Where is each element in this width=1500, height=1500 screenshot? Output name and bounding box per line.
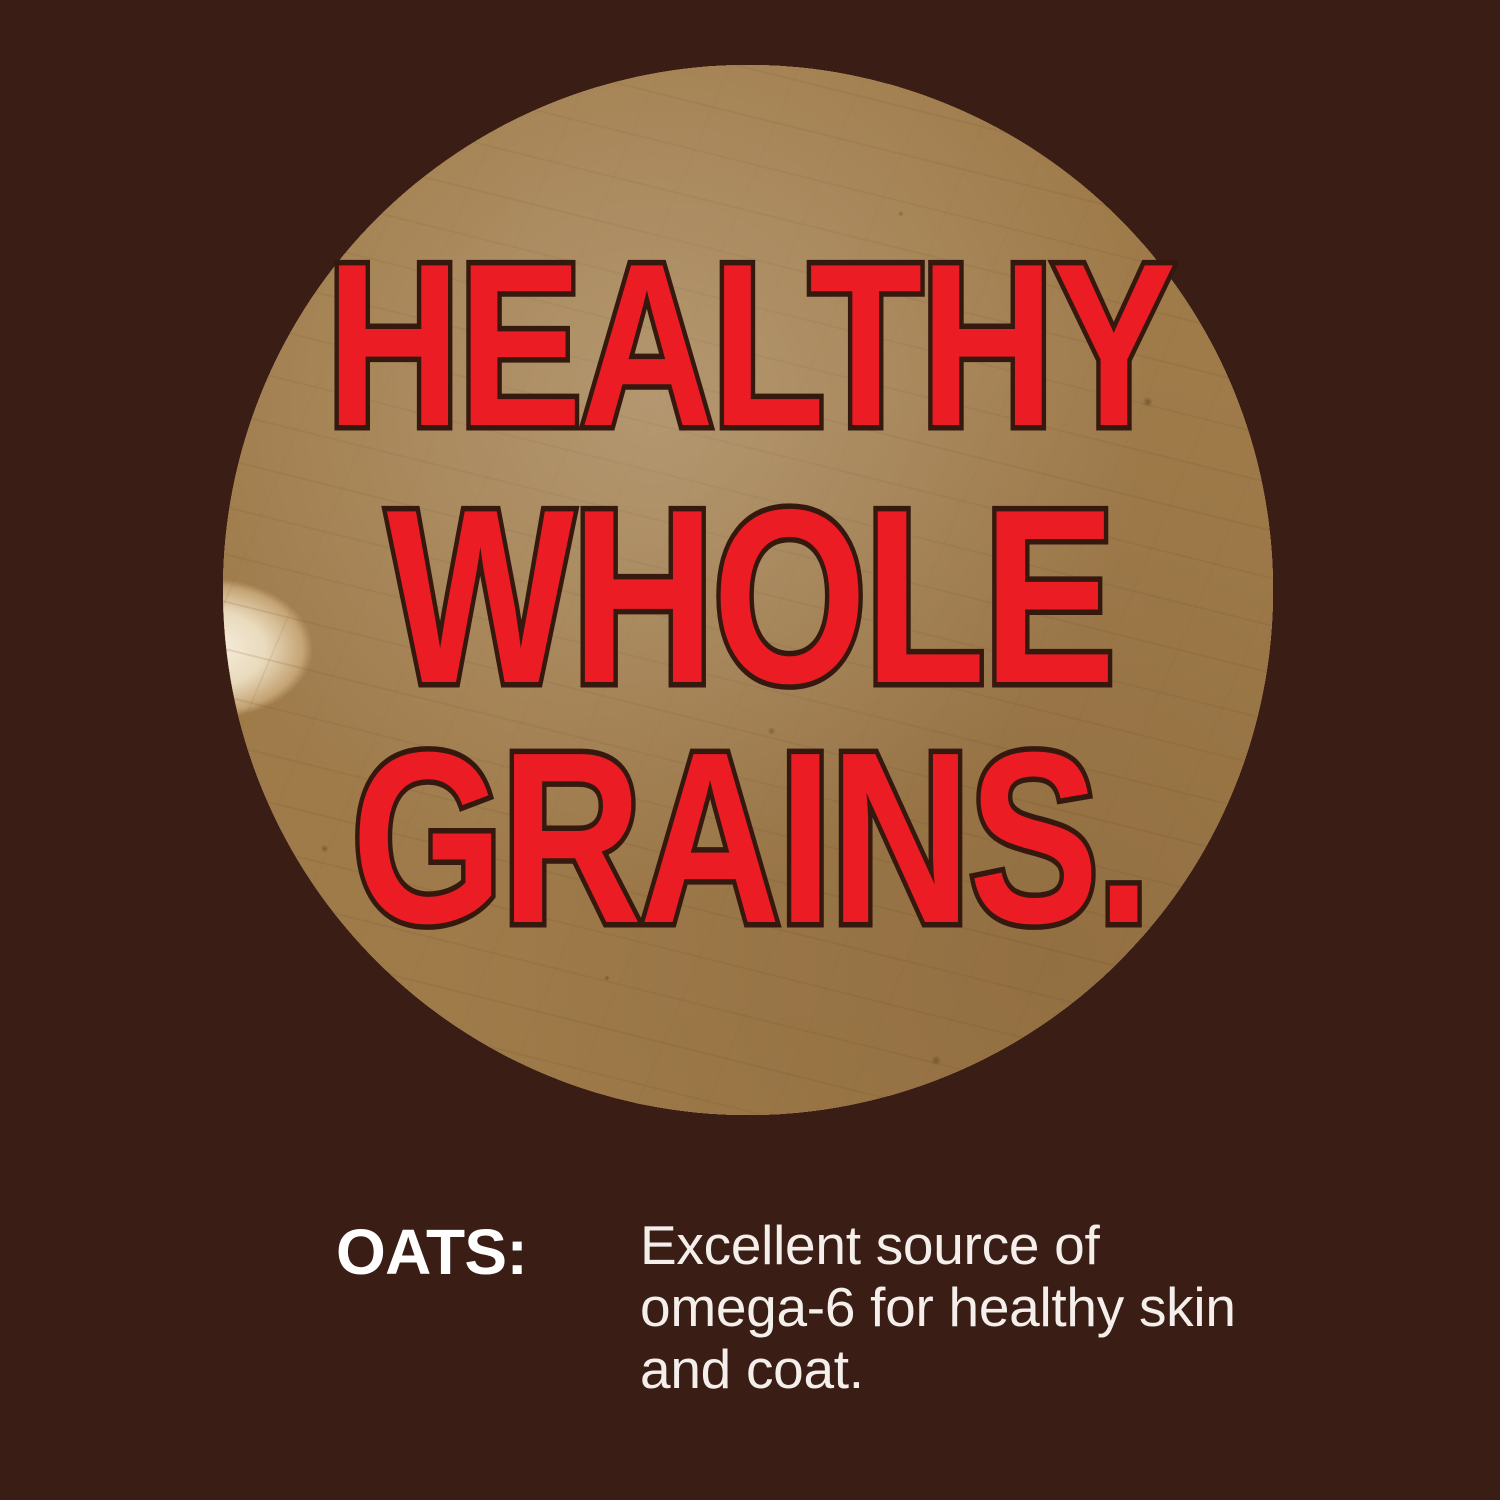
oat-texture-shading-layer <box>223 65 1273 1115</box>
oats-photo-circle <box>223 65 1273 1115</box>
benefit-caption: OATS: Excellent source of omega-6 for he… <box>336 1214 1336 1400</box>
caption-body-text: Excellent source of omega-6 for healthy … <box>640 1214 1240 1400</box>
product-benefit-graphic: HEALTHY WHOLE GRAINS. OATS: Excellent so… <box>0 0 1500 1500</box>
caption-term-label: OATS: <box>336 1214 640 1284</box>
